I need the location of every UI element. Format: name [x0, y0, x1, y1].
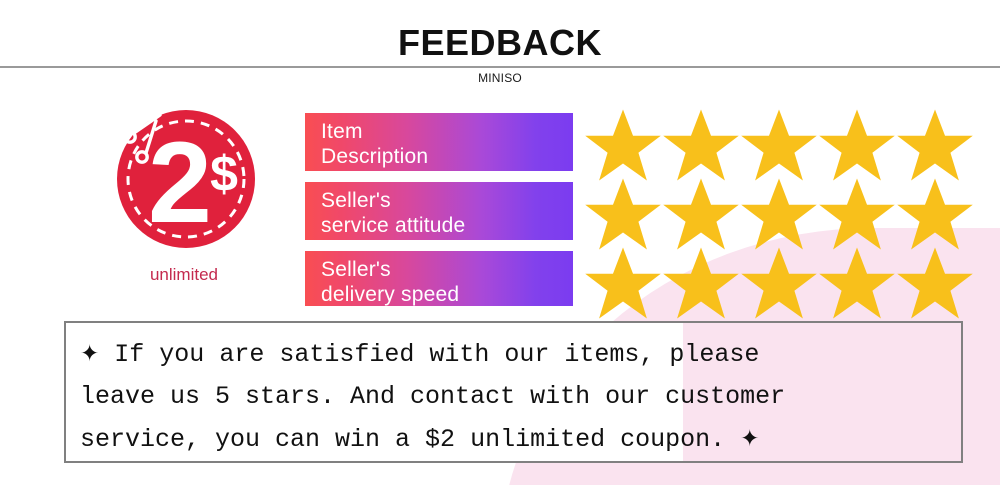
message-line-2: leave us 5 stars. And contact with our c…: [80, 376, 947, 418]
message-line-3-text: service, you can win a $2 unlimited coup…: [80, 425, 725, 454]
header-divider: [0, 66, 1000, 68]
criteria-item-item-description: Item Description: [305, 113, 573, 171]
star-icon[interactable]: [740, 246, 818, 320]
star-icon[interactable]: [662, 108, 740, 182]
message-line-1-text: If you are satisfied with our items, ple…: [114, 340, 759, 369]
star-icon[interactable]: [896, 177, 974, 251]
star-icon[interactable]: [584, 177, 662, 251]
star-row: [584, 246, 974, 315]
star-icon[interactable]: [740, 177, 818, 251]
star-icon[interactable]: [584, 108, 662, 182]
star-icon[interactable]: [740, 108, 818, 182]
criteria-list: Item Description Seller's service attitu…: [305, 113, 575, 317]
feedback-banner: FEEDBACK MINISO 2 $ unlimited Item Descr…: [0, 0, 1000, 485]
criteria-line-1: Seller's: [321, 257, 573, 282]
brand-name: MINISO: [0, 70, 1000, 86]
criteria-line-1: Seller's: [321, 188, 573, 213]
star-icon[interactable]: [818, 177, 896, 251]
criteria-item-seller-delivery-speed: Seller's delivery speed: [305, 251, 573, 306]
message-line-1: ✦ If you are satisfied with our items, p…: [80, 333, 947, 376]
star-icon[interactable]: [818, 246, 896, 320]
star-icon[interactable]: [896, 108, 974, 182]
message-line-3: service, you can win a $2 unlimited coup…: [80, 418, 947, 461]
star-icon[interactable]: [584, 246, 662, 320]
diamond-bullet-icon: ✦: [80, 341, 99, 367]
coupon-disc-graphic: 2 $: [116, 109, 256, 249]
criteria-line-2: Description: [321, 144, 573, 169]
star-rating-grid: [584, 108, 974, 315]
criteria-line-1: Item: [321, 119, 573, 144]
coupon-badge: 2 $ unlimited: [104, 109, 256, 301]
criteria-item-seller-service-attitude: Seller's service attitude: [305, 182, 573, 240]
criteria-line-2: delivery speed: [321, 282, 573, 306]
star-icon[interactable]: [662, 177, 740, 251]
coupon-label: unlimited: [104, 264, 264, 286]
banner-header: FEEDBACK MINISO: [0, 0, 1000, 96]
feedback-message-box: ✦ If you are satisfied with our items, p…: [64, 321, 963, 463]
svg-text:2: 2: [148, 119, 212, 247]
star-icon[interactable]: [818, 108, 896, 182]
star-row: [584, 177, 974, 246]
criteria-line-2: service attitude: [321, 213, 573, 238]
page-title: FEEDBACK: [0, 22, 1000, 64]
svg-text:$: $: [210, 146, 238, 202]
diamond-bullet-icon: ✦: [740, 426, 759, 452]
star-row: [584, 108, 974, 177]
star-icon[interactable]: [896, 246, 974, 320]
star-icon[interactable]: [662, 246, 740, 320]
